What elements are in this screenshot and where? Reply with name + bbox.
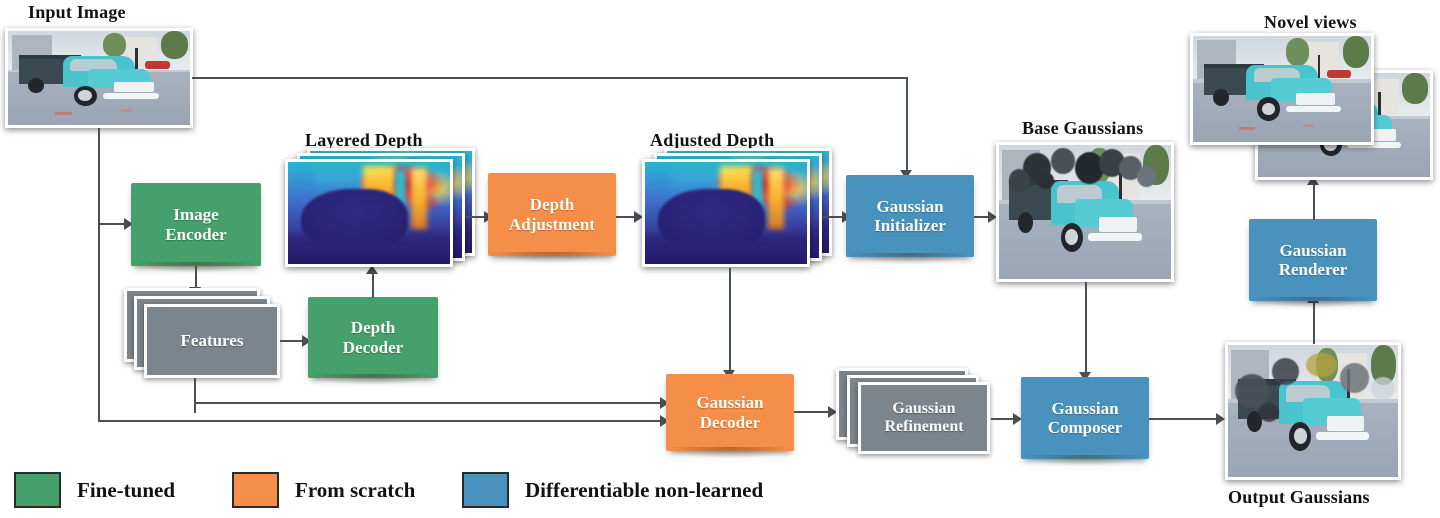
- connector-output-to-renderer: [1313, 300, 1315, 344]
- legend-item-differentiable: Differentiable non-learned: [462, 472, 763, 508]
- node-gaussian-composer[interactable]: Gaussian Composer: [1021, 377, 1149, 459]
- legend: Fine-tuned From scratch Differentiable n…: [0, 462, 1440, 518]
- node-gaussian-decoder-line2: Decoder: [700, 413, 760, 432]
- refinement-sheet-front: Gaussian Refinement: [858, 382, 990, 454]
- node-gaussian-initializer[interactable]: Gaussian Initializer: [846, 175, 974, 257]
- layered-depth-sheet-front: [285, 159, 453, 267]
- connector-base-gaussians-down: [1085, 282, 1087, 375]
- node-gaussian-renderer-line1: Gaussian: [1279, 241, 1346, 260]
- caption-input-image: Input Image: [28, 2, 126, 23]
- node-features-label: Features: [181, 331, 244, 350]
- truck-photo: [8, 31, 190, 125]
- legend-swatch-from-scratch: [232, 472, 279, 508]
- node-gaussian-decoder[interactable]: Gaussian Decoder: [666, 374, 794, 451]
- node-depth-decoder-line2: Decoder: [343, 338, 403, 357]
- features-sheet-front: Features: [144, 304, 280, 378]
- legend-item-fine-tuned: Fine-tuned: [14, 472, 175, 508]
- node-image-encoder[interactable]: Image Encoder: [131, 183, 261, 266]
- node-gaussian-composer-line1: Gaussian: [1051, 399, 1118, 418]
- adjusted-depth-sheet-front: [642, 159, 810, 267]
- input-image-thumbnail: [5, 28, 193, 128]
- connector-renderer-to-novel-views: [1313, 182, 1315, 220]
- stack-gaussian-refinement[interactable]: Gaussian Refinement: [836, 368, 991, 463]
- connector-features-to-decoder-run: [194, 402, 664, 404]
- caption-base-gaussians: Base Gaussians: [1022, 118, 1143, 139]
- connector-adjusted-depth-down: [729, 268, 731, 373]
- pipeline-diagram: Input Image Layered Depth Adjusted Depth…: [0, 0, 1440, 518]
- node-image-encoder-line2: Encoder: [165, 225, 226, 244]
- legend-label-differentiable: Differentiable non-learned: [525, 478, 763, 503]
- connector-input-top-run: [192, 77, 908, 79]
- legend-item-from-scratch: From scratch: [232, 472, 415, 508]
- legend-label-fine-tuned: Fine-tuned: [77, 478, 175, 503]
- connector-input-down: [98, 128, 100, 420]
- output-gaussians-thumbnail: [1225, 342, 1401, 480]
- connector-top-run-down: [906, 77, 908, 173]
- node-gaussian-refinement-line1: Gaussian: [892, 400, 955, 418]
- node-depth-decoder[interactable]: Depth Decoder: [308, 297, 438, 378]
- connector-input-bottom-run: [98, 420, 666, 422]
- node-image-encoder-line1: Image: [173, 205, 218, 224]
- node-gaussian-initializer-line2: Initializer: [874, 216, 946, 235]
- splat-artifacts: [999, 145, 1171, 279]
- novel-view-thumbnail-front: [1190, 33, 1374, 145]
- node-depth-adjustment[interactable]: Depth Adjustment: [488, 173, 616, 256]
- connector-composer-to-output: [1149, 418, 1221, 420]
- connector-depth-decoder-up: [372, 272, 374, 298]
- caption-novel-views: Novel views: [1264, 12, 1357, 33]
- node-gaussian-decoder-line1: Gaussian: [696, 393, 763, 412]
- node-gaussian-composer-line2: Composer: [1048, 418, 1123, 437]
- stack-layered-depth: [285, 148, 475, 270]
- connector-features-down: [194, 378, 196, 413]
- node-gaussian-initializer-line1: Gaussian: [876, 197, 943, 216]
- legend-swatch-differentiable: [462, 472, 509, 508]
- node-depth-decoder-line1: Depth: [351, 318, 395, 337]
- novel-view-render-1: [1193, 36, 1371, 142]
- node-depth-adjustment-line1: Depth: [530, 195, 574, 214]
- node-depth-adjustment-line2: Adjustment: [509, 215, 595, 234]
- node-gaussian-refinement-line2: Refinement: [884, 418, 963, 436]
- arrowhead-to-output-gaussians: [1216, 413, 1225, 425]
- stack-features[interactable]: Features: [124, 288, 290, 384]
- node-gaussian-renderer[interactable]: Gaussian Renderer: [1249, 219, 1377, 301]
- legend-label-from-scratch: From scratch: [295, 478, 415, 503]
- legend-swatch-fine-tuned: [14, 472, 61, 508]
- base-gaussians-thumbnail: [996, 142, 1174, 282]
- output-splat-artifacts: [1228, 345, 1398, 477]
- node-gaussian-renderer-line2: Renderer: [1279, 260, 1348, 279]
- stack-adjusted-depth: [642, 148, 832, 270]
